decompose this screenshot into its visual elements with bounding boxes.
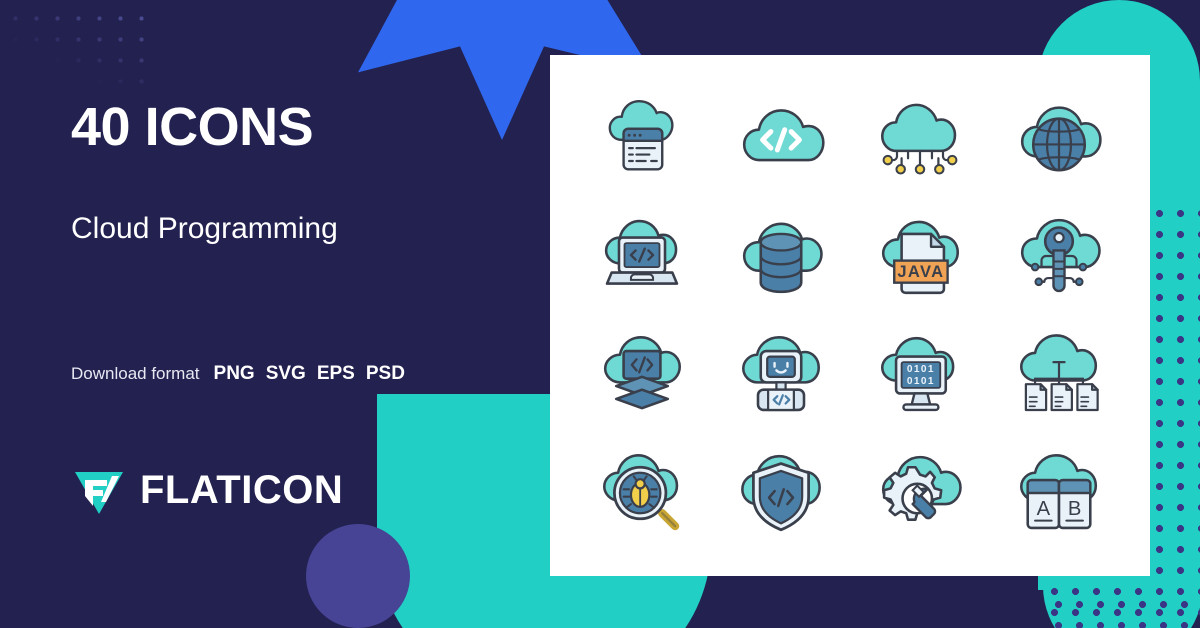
icon-cell-cloud-layers-code xyxy=(572,316,711,434)
icon-cell-cloud-key-network xyxy=(989,197,1128,315)
icon-cell-cloud-globe xyxy=(989,79,1128,197)
brand-name: FLATICON xyxy=(140,470,343,510)
format-eps[interactable]: EPS xyxy=(317,363,355,385)
format-png[interactable]: PNG xyxy=(214,363,255,385)
page-subtitle: Cloud Programming xyxy=(71,211,338,247)
brand-logo[interactable]: FLATICON xyxy=(71,462,343,518)
download-format-list: PNG SVG EPS PSD xyxy=(214,363,405,385)
format-svg[interactable]: SVG xyxy=(266,363,306,385)
promo-banner: 40 ICONS Cloud Programming Download form… xyxy=(0,0,1200,628)
icon-cell-cloud-gear-wrench xyxy=(850,434,989,552)
svg-text:0101: 0101 xyxy=(906,364,934,375)
flaticon-logo-icon xyxy=(71,462,127,518)
banner-text-column: 40 ICONS Cloud Programming Download form… xyxy=(71,0,501,628)
download-format-row: Download format PNG SVG EPS PSD xyxy=(71,363,405,385)
icon-cell-bug-search xyxy=(572,434,711,552)
ab-test-label-a: A xyxy=(1036,498,1050,520)
format-psd[interactable]: PSD xyxy=(366,363,405,385)
icon-cell-cloud-code-window xyxy=(572,79,711,197)
icon-preview-panel: JAVA xyxy=(550,55,1150,576)
icon-cell-cloud-documents xyxy=(989,316,1128,434)
icon-cell-cloud-shield-code xyxy=(711,434,850,552)
icon-cell-java-file: JAVA xyxy=(850,197,989,315)
ab-test-label-b: B xyxy=(1067,498,1081,520)
icon-cell-cloud-database xyxy=(711,197,850,315)
page-title: 40 ICONS xyxy=(71,100,313,154)
svg-text:0101: 0101 xyxy=(906,376,934,387)
java-file-label: JAVA xyxy=(897,263,944,282)
icon-cell-cloud-network-nodes xyxy=(850,79,989,197)
icon-cell-cloud-binary-monitor: 0101 0101 xyxy=(850,316,989,434)
download-format-label: Download format xyxy=(71,364,200,384)
icon-cell-cloud-laptop-code xyxy=(572,197,711,315)
icon-cell-cloud-robot xyxy=(711,316,850,434)
icon-cell-cloud-code-tags xyxy=(711,79,850,197)
icon-cell-ab-testing: A B xyxy=(989,434,1128,552)
